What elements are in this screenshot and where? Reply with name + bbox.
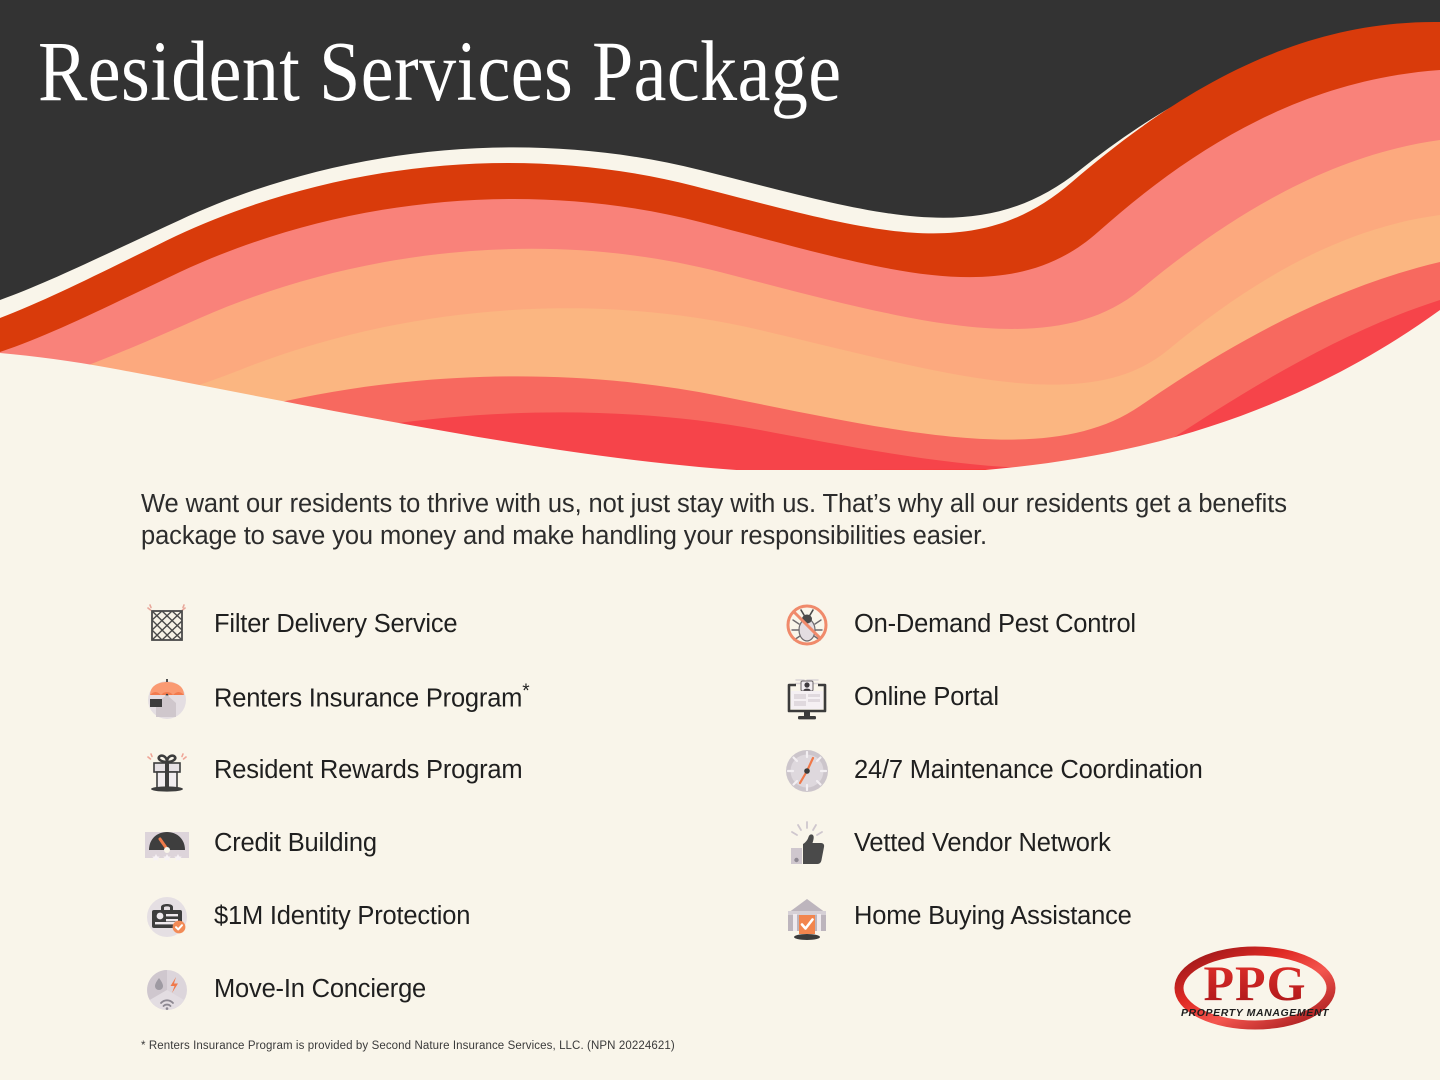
- benefit-item-vetted-vendor-network: Vetted Vendor Network: [781, 807, 1421, 880]
- benefit-item-pest-control: On-Demand Pest Control: [781, 588, 1421, 661]
- benefit-item-resident-rewards-program: Resident Rewards Program: [141, 734, 781, 807]
- intro-paragraph: We want our residents to thrive with us,…: [141, 488, 1306, 552]
- slide-canvas: Resident Services Package We want our re…: [0, 0, 1440, 1080]
- benefit-label: $1M Identity Protection: [214, 902, 470, 931]
- benefit-item-maintenance-coordination: 24/7 Maintenance Coordination: [781, 734, 1421, 807]
- thumbs-up-icon: [781, 818, 833, 870]
- page-title: Resident Services Package: [38, 22, 915, 121]
- credit-score-icon: [141, 818, 193, 870]
- benefit-label: 24/7 Maintenance Coordination: [854, 756, 1203, 785]
- benefit-item-renters-insurance-program: Renters Insurance Program*: [141, 661, 781, 734]
- benefit-item-credit-building: Credit Building: [141, 807, 781, 880]
- footnote-marker: *: [522, 681, 529, 702]
- air-filter-icon: [141, 599, 193, 651]
- benefit-label: Filter Delivery Service: [214, 610, 457, 639]
- benefit-label: On-Demand Pest Control: [854, 610, 1136, 639]
- benefit-label: Online Portal: [854, 683, 999, 712]
- benefit-label: Vetted Vendor Network: [854, 829, 1111, 858]
- id-protection-icon: [141, 891, 193, 943]
- footnote-text: * Renters Insurance Program is provided …: [141, 1040, 675, 1052]
- benefit-item-identity-protection: $1M Identity Protection: [141, 880, 781, 953]
- benefit-label: Resident Rewards Program: [214, 756, 522, 785]
- benefit-label: Home Buying Assistance: [854, 902, 1132, 931]
- benefit-label: Credit Building: [214, 829, 377, 858]
- cream-curve-mask: [0, 250, 1440, 510]
- benefit-item-online-portal: Online Portal: [781, 661, 1421, 734]
- monitor-portal-icon: [781, 672, 833, 724]
- no-pest-icon: [781, 599, 833, 651]
- clock-icon: [781, 745, 833, 797]
- benefits-left-column: Filter Delivery Service Renters Insuranc…: [141, 588, 781, 1026]
- benefit-label: Move-In Concierge: [214, 975, 426, 1004]
- benefits-right-column: On-Demand Pest Control: [781, 588, 1421, 953]
- umbrella-icon: [141, 672, 193, 724]
- benefit-item-filter-delivery-service: Filter Delivery Service: [141, 588, 781, 661]
- home-checklist-icon: [781, 891, 833, 943]
- gift-icon: [141, 745, 193, 797]
- logo-tagline: PROPERTY MANAGEMENT: [1181, 1007, 1330, 1019]
- logo-brand: PPG: [1204, 955, 1307, 1011]
- benefit-item-move-in-concierge: Move-In Concierge: [141, 953, 781, 1026]
- benefit-label: Renters Insurance Program*: [214, 681, 529, 714]
- cream-curve: [0, 310, 1440, 510]
- utilities-icon: [141, 964, 193, 1016]
- ppg-logo: PPG PROPERTY MANAGEMENT: [1172, 938, 1338, 1038]
